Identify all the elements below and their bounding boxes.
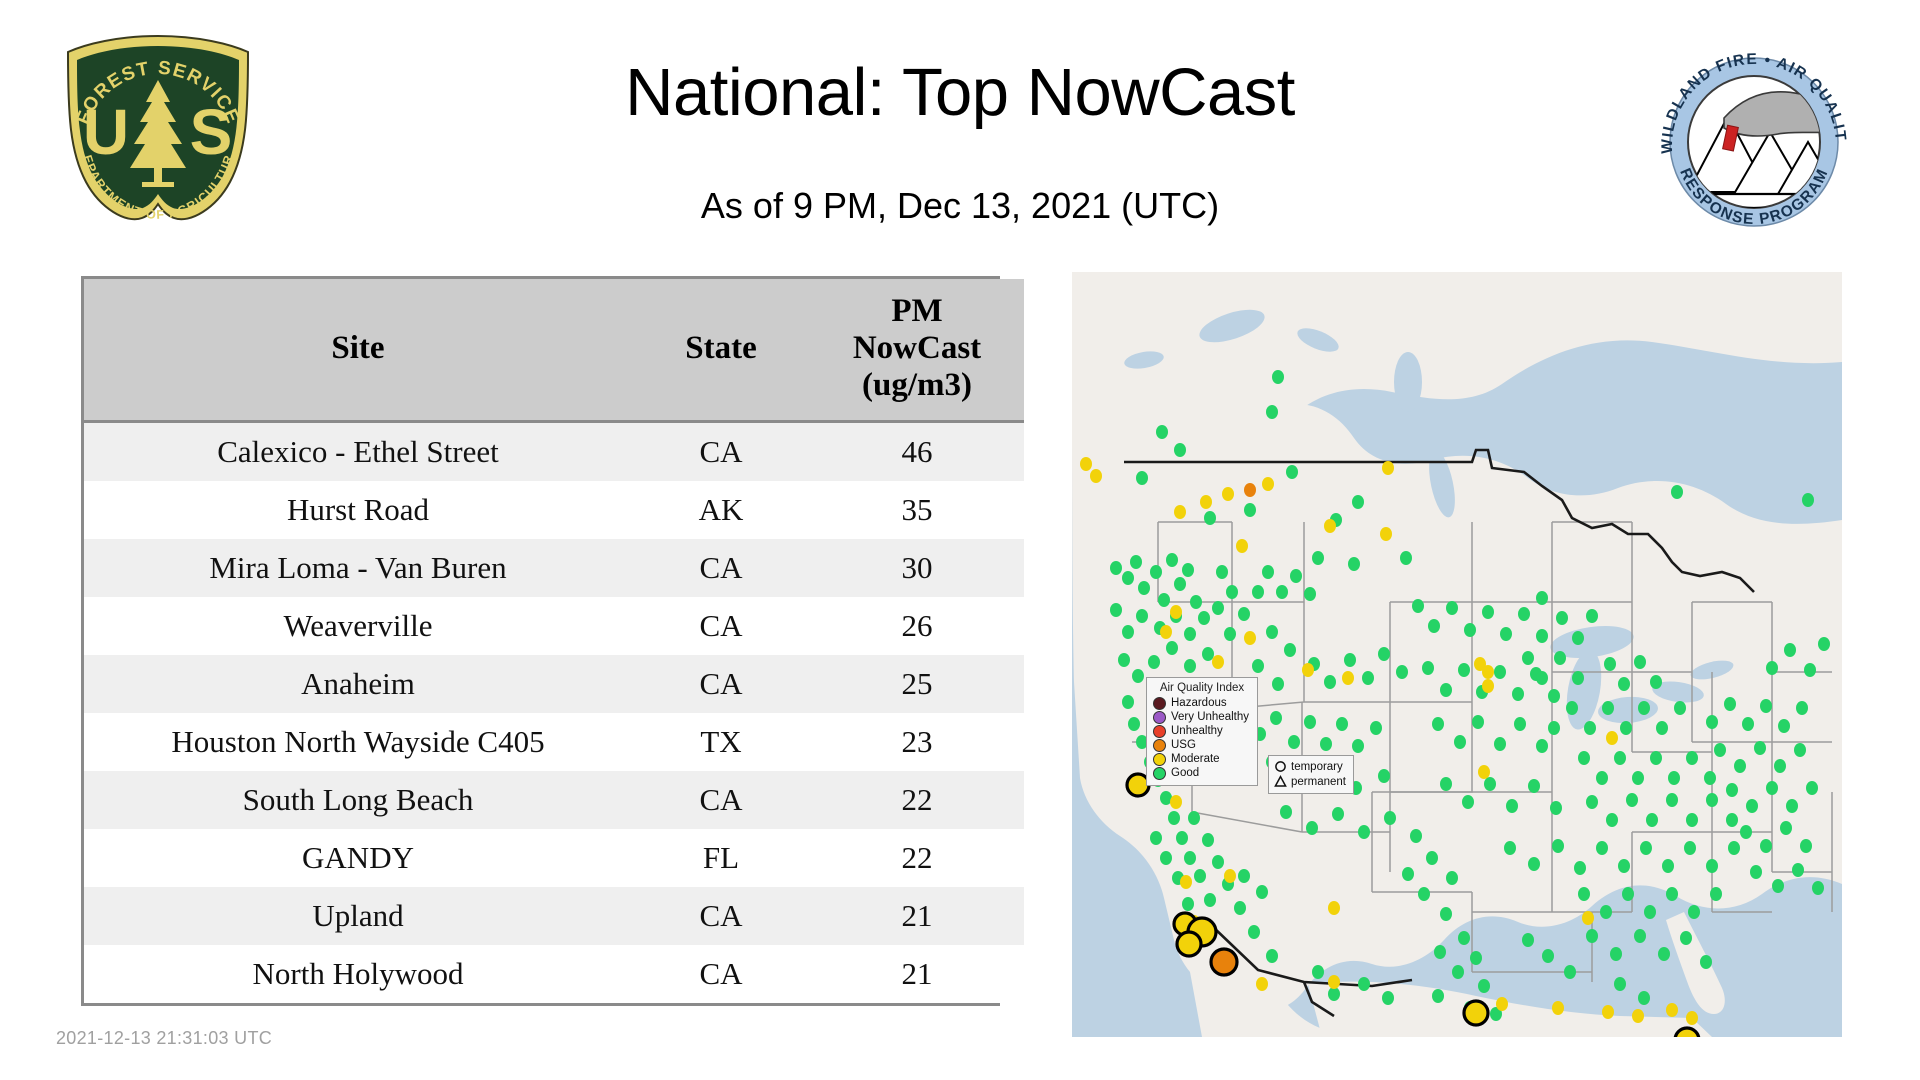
table-row: Houston North Wayside C405 TX 23 [84, 713, 1024, 771]
moderate-swatch-icon [1153, 753, 1166, 766]
cell-site: Houston North Wayside C405 [84, 713, 632, 771]
marker-calexico [1211, 949, 1237, 975]
cell-site: North Holywood [84, 945, 632, 1003]
aqi-legend-label: USG [1171, 739, 1196, 751]
table-row: Upland CA 21 [84, 887, 1024, 945]
cell-site: Upland [84, 887, 632, 945]
site-type-label: permanent [1291, 776, 1346, 788]
table-row: Hurst Road AK 35 [84, 481, 1024, 539]
very-unhealthy-swatch-icon [1153, 711, 1166, 724]
marker-gandy [1675, 1028, 1699, 1037]
cell-value: 46 [810, 422, 1024, 482]
cell-value: 21 [810, 945, 1024, 1003]
cell-state: CA [632, 597, 810, 655]
page-subtitle: As of 9 PM, Dec 13, 2021 (UTC) [0, 185, 1920, 227]
cell-value: 22 [810, 771, 1024, 829]
cell-site: Anaheim [84, 655, 632, 713]
site-type-item-permanent: permanent [1274, 774, 1348, 789]
page-title: National: Top NowCast [0, 56, 1920, 130]
aqi-legend-label: Very Unhealthy [1171, 711, 1249, 723]
column-header-site: Site [84, 279, 632, 422]
permanent-triangle-icon [1274, 775, 1287, 788]
table-row: South Long Beach CA 22 [84, 771, 1024, 829]
column-header-pm-line2: NowCast [814, 330, 1020, 367]
cell-state: CA [632, 887, 810, 945]
cell-state: FL [632, 829, 810, 887]
column-header-pm-line3: (ug/m3) [814, 367, 1020, 404]
hazardous-swatch-icon [1153, 697, 1166, 710]
aqi-legend-item-very-unhealthy: Very Unhealthy [1153, 710, 1251, 724]
column-header-pm-line1: PM [814, 293, 1020, 330]
aqi-legend-item-unhealthy: Unhealthy [1153, 724, 1251, 738]
site-type-item-temporary: temporary [1274, 759, 1348, 774]
table-row: Mira Loma - Van Buren CA 30 [84, 539, 1024, 597]
cell-value: 23 [810, 713, 1024, 771]
cell-value: 25 [810, 655, 1024, 713]
top-nowcast-table: Site State PM NowCast (ug/m3) Calexico -… [81, 276, 1000, 1006]
cell-site: Hurst Road [84, 481, 632, 539]
cell-state: CA [632, 945, 810, 1003]
marker-houston-north-wayside [1464, 1001, 1488, 1025]
table-row: Anaheim CA 25 [84, 655, 1024, 713]
usg-swatch-icon [1153, 739, 1166, 752]
cell-state: CA [632, 539, 810, 597]
aqi-legend-item-good: Good [1153, 766, 1251, 780]
site-type-label: temporary [1291, 761, 1343, 773]
site-type-legend: temporary permanent [1268, 755, 1354, 794]
table-header-row: Site State PM NowCast (ug/m3) [84, 279, 1024, 422]
cell-value: 26 [810, 597, 1024, 655]
generated-timestamp: 2021-12-13 21:31:03 UTC [56, 1028, 272, 1049]
temporary-circle-icon [1274, 760, 1287, 773]
table-row: North Holywood CA 21 [84, 945, 1024, 1003]
cell-site: South Long Beach [84, 771, 632, 829]
cell-state: TX [632, 713, 810, 771]
cell-value: 21 [810, 887, 1024, 945]
cell-site: Weaverville [84, 597, 632, 655]
cell-state: CA [632, 422, 810, 482]
aqi-legend-title: Air Quality Index [1153, 682, 1251, 694]
aqi-legend-label: Unhealthy [1171, 725, 1223, 737]
aqi-legend-item-usg: USG [1153, 738, 1251, 752]
cell-state: CA [632, 771, 810, 829]
map-canvas[interactable] [1072, 272, 1842, 1037]
cell-state: CA [632, 655, 810, 713]
table-row: Calexico - Ethel Street CA 46 [84, 422, 1024, 482]
usg-dots [1244, 483, 1256, 497]
marker-south-long-beach [1177, 932, 1201, 956]
good-swatch-icon [1153, 767, 1166, 780]
aqi-legend-label: Good [1171, 767, 1199, 779]
cell-value: 35 [810, 481, 1024, 539]
us-aqi-monitor-map[interactable]: Air Quality Index Hazardous Very Unhealt… [1072, 272, 1842, 1037]
cell-value: 22 [810, 829, 1024, 887]
column-header-state: State [632, 279, 810, 422]
aqi-legend: Air Quality Index Hazardous Very Unhealt… [1146, 677, 1258, 786]
table-row: GANDY FL 22 [84, 829, 1024, 887]
aqi-legend-item-hazardous: Hazardous [1153, 696, 1251, 710]
aqi-legend-label: Hazardous [1171, 697, 1227, 709]
table-row: Weaverville CA 26 [84, 597, 1024, 655]
aqi-legend-item-moderate: Moderate [1153, 752, 1251, 766]
aqi-legend-label: Moderate [1171, 753, 1220, 765]
cell-value: 30 [810, 539, 1024, 597]
cell-state: AK [632, 481, 810, 539]
cell-site: Calexico - Ethel Street [84, 422, 632, 482]
cell-site: GANDY [84, 829, 632, 887]
column-header-pm-nowcast: PM NowCast (ug/m3) [810, 279, 1024, 422]
unhealthy-swatch-icon [1153, 725, 1166, 738]
cell-site: Mira Loma - Van Buren [84, 539, 632, 597]
